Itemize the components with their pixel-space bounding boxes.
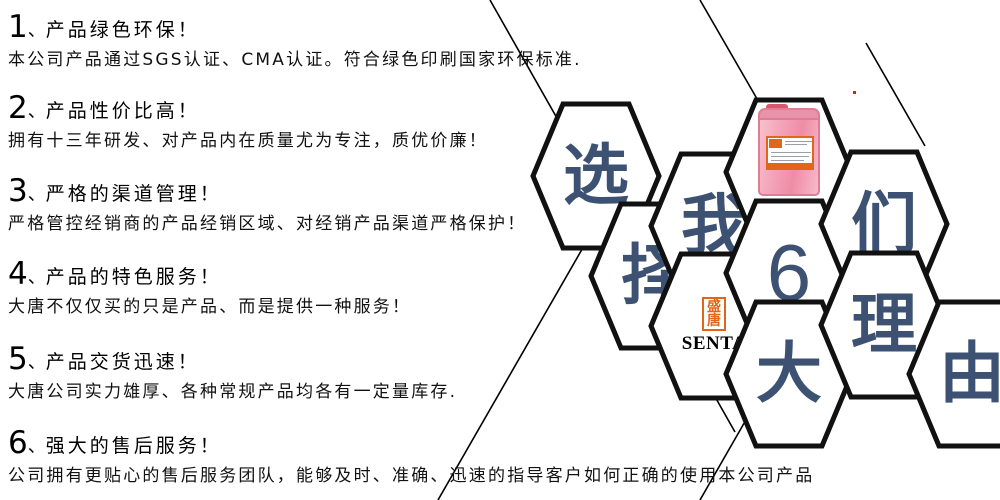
label-text-line	[771, 160, 804, 161]
label-text-line	[785, 144, 807, 145]
label-footer-block	[768, 163, 812, 168]
honeycomb-graphic: 选 择 我 盛 唐 SENTA	[0, 0, 1000, 500]
logo-mark-top-char: 盛	[707, 300, 721, 314]
hex-label: 由	[906, 298, 1000, 450]
jerrycan-label	[766, 136, 814, 170]
product-jerrycan-image	[754, 98, 824, 198]
label-brand-block	[769, 139, 782, 148]
label-text-line	[771, 156, 809, 157]
jerrycan-shoulder	[758, 108, 820, 120]
label-text-line	[771, 152, 811, 153]
logo-mark-bottom-char: 唐	[707, 314, 721, 328]
hex-cell-you: 由	[906, 298, 1000, 450]
stray-red-dot	[853, 91, 856, 94]
label-text-line	[785, 141, 813, 142]
promo-banner: 1、产品绿色环保！ 本公司产品通过SGS认证、CMA认证。符合绿色印刷国家环保标…	[0, 0, 1000, 500]
